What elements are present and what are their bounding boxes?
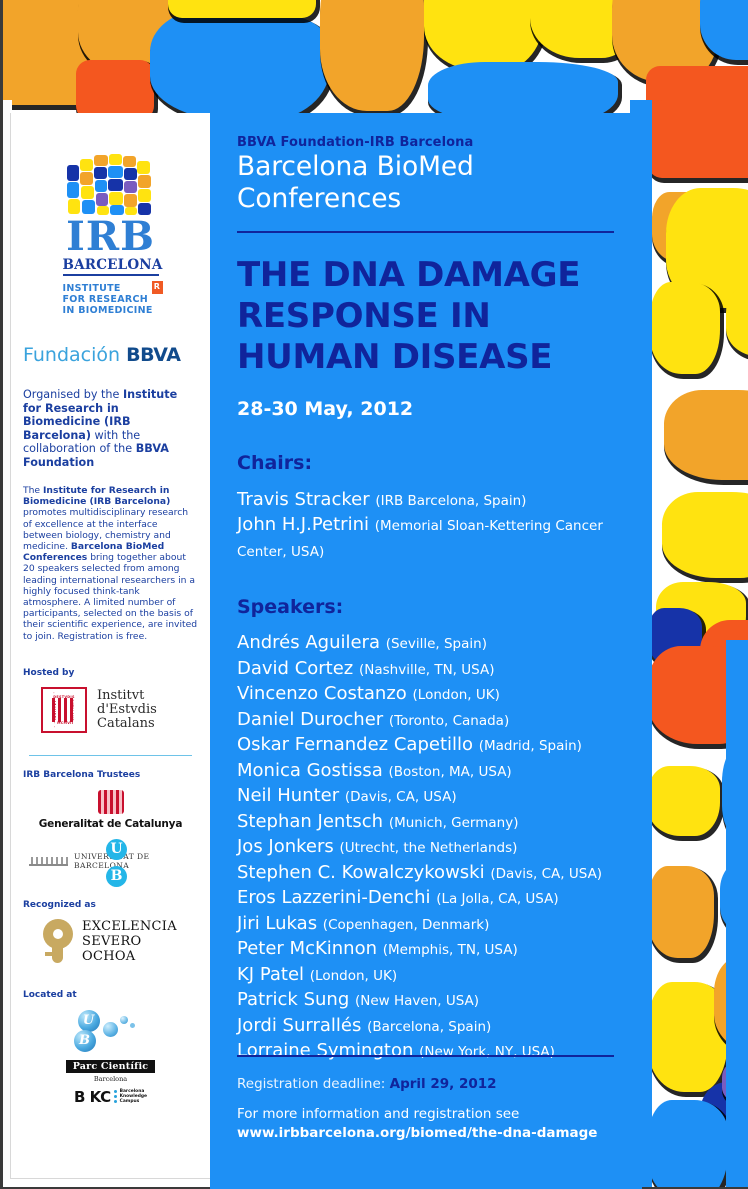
person-affiliation: (Toronto, Canada) — [389, 713, 509, 729]
ub-u-icon: U — [106, 839, 127, 860]
person-name: Stephen C. Kowalczykowski — [237, 862, 490, 883]
mosaic-tile — [648, 100, 748, 178]
parc-cientific-logo: U B Parc Científic Barcelona B KC Barcel… — [23, 1010, 198, 1106]
person-name: KJ Patel — [237, 964, 310, 985]
person-entry: Neil Hunter (Davis, CA, USA) — [237, 784, 614, 810]
person-name: Stephan Jentsch — [237, 811, 389, 832]
person-affiliation: (London, UK) — [413, 687, 500, 703]
person-name: Patrick Sung — [237, 989, 355, 1010]
conference-poster: IRB BARCELONA INSTITUTE FOR RESEARCH IN … — [0, 0, 748, 1189]
mosaic-tile — [664, 390, 748, 480]
mosaic-tile — [650, 282, 720, 374]
parc-bubble-u-label: U — [83, 1013, 94, 1028]
page-title: THE DNA DAMAGE RESPONSE IN HUMAN DISEASE — [237, 255, 614, 378]
severo-text: EXCELENCIA SEVERO OCHOA — [82, 919, 177, 964]
person-entry: KJ Patel (London, UK) — [237, 963, 614, 989]
parc-bubble-b-label: B — [79, 1033, 90, 1048]
mosaic-tile — [648, 766, 720, 836]
person-affiliation: (New Haven, USA) — [355, 993, 479, 1009]
parc-bubbles-icon: U B — [56, 1010, 166, 1054]
ub-name: UNIVERSITAT DE BARCELONA — [74, 852, 198, 870]
registration-url[interactable]: www.irbbarcelona.org/biomed/the-dna-dama… — [237, 1125, 597, 1141]
person-name: Daniel Durocher — [237, 709, 389, 730]
person-affiliation: (Copenhagen, Denmark) — [323, 917, 490, 933]
person-entry: Stephan Jentsch (Munich, Germany) — [237, 810, 614, 836]
person-entry: Jordi Surrallés (Barcelona, Spain) — [237, 1014, 614, 1040]
irb-subtitle-line2: FOR RESEARCH — [63, 294, 159, 305]
ub-b-icon: B — [106, 866, 127, 887]
person-affiliation: (Barcelona, Spain) — [367, 1019, 491, 1035]
mosaic-tile — [320, 0, 424, 111]
person-name: Peter McKinnon — [237, 938, 383, 959]
mosaic-tile — [648, 1100, 728, 1189]
person-entry: Eros Lazzerini-Denchi (La Jolla, CA, USA… — [237, 886, 614, 912]
bkc-sub-line3: Campus — [120, 1099, 140, 1104]
severo-line3: OCHOA — [82, 949, 177, 964]
person-name: Monica Gostissa — [237, 760, 389, 781]
person-entry: Peter McKinnon (Memphis, TN, USA) — [237, 937, 614, 963]
person-affiliation: (La Jolla, CA, USA) — [436, 891, 558, 907]
person-affiliation: (Boston, MA, USA) — [389, 764, 512, 780]
person-name: Jiri Lukas — [237, 913, 323, 934]
mosaic-tile — [168, 0, 316, 18]
organised-by-text: Organised by the Institute for Research … — [23, 388, 198, 469]
far-right-blue-strip — [726, 640, 748, 1189]
registered-mark-icon: R — [152, 281, 163, 294]
person-name: Jordi Surrallés — [237, 1015, 367, 1036]
description-text: The Institute for Research in Biomedicin… — [23, 485, 198, 642]
deadline-date: April 29, 2012 — [390, 1076, 497, 1092]
iec-name-line3: Catalans — [97, 717, 157, 731]
person-name: Lorraine Symington — [237, 1040, 419, 1061]
person-entry: David Cortez (Nashville, TN, USA) — [237, 657, 614, 683]
generalitat-name: Generalitat de Catalunya — [23, 818, 198, 830]
person-affiliation: (New York, NY, USA) — [419, 1044, 555, 1060]
bkc-logo: B KC Barcelona Knowledge Campus — [23, 1088, 198, 1106]
irb-subtitle: INSTITUTE FOR RESEARCH IN BIOMEDICINE R — [63, 283, 159, 316]
chairs-heading: Chairs: — [237, 452, 614, 474]
mosaic-tile — [648, 866, 714, 958]
severo-line2: SEVERO — [82, 934, 177, 949]
person-entry: Daniel Durocher (Toronto, Canada) — [237, 708, 614, 734]
person-affiliation: (Memphis, TN, USA) — [383, 942, 518, 958]
sidebar-divider — [29, 755, 192, 756]
parc-bubble-mid — [103, 1022, 118, 1037]
recognized-as-label: Recognized as — [23, 900, 198, 910]
parc-bubble-b: B — [74, 1030, 96, 1052]
info-line: For more information and registration se… — [237, 1106, 519, 1122]
person-entry: Vincenzo Costanzo (London, UK) — [237, 682, 614, 708]
person-entry: Monica Gostissa (Boston, MA, USA) — [237, 759, 614, 785]
person-name: Vincenzo Costanzo — [237, 683, 413, 704]
key-icon — [43, 919, 73, 963]
speakers-list: Andrés Aguilera (Seville, Spain)David Co… — [237, 631, 614, 1065]
series-title: Barcelona BioMed Conferences — [237, 151, 614, 215]
person-affiliation: (Davis, CA, USA) — [345, 789, 457, 805]
description-pre: The — [23, 485, 43, 496]
bkc-dots-icon — [114, 1090, 117, 1103]
irb-subtitle-line3: IN BIOMEDICINE — [63, 305, 159, 316]
iec-logo: · DESTVDIS · · MCMVII · INSTITVT CATALAN… — [23, 687, 198, 733]
parc-bubble-small1 — [120, 1016, 128, 1024]
person-affiliation: (Utrecht, the Netherlands) — [340, 840, 518, 856]
parc-tag: Parc Científic — [66, 1060, 156, 1073]
irb-subtitle-line1: INSTITUTE — [63, 283, 159, 294]
sidebar: IRB BARCELONA INSTITUTE FOR RESEARCH IN … — [10, 113, 210, 1179]
person-entry: Andrés Aguilera (Seville, Spain) — [237, 631, 614, 657]
iec-name-line2: d'Estvdis — [97, 703, 157, 717]
person-name: Jos Jonkers — [237, 836, 340, 857]
person-affiliation: (IRB Barcelona, Spain) — [375, 493, 526, 509]
bbva-brand: BBVA — [126, 344, 180, 366]
person-name: Andrés Aguilera — [237, 632, 386, 653]
person-affiliation: (Nashville, TN, USA) — [359, 662, 495, 678]
generalitat-logo: Generalitat de Catalunya — [23, 790, 198, 830]
person-entry: Stephen C. Kowalczykowski (Davis, CA, US… — [237, 861, 614, 887]
mosaic-tile — [424, 0, 544, 70]
description-bold-irb: Institute for Research in Biomedicine (I… — [23, 485, 170, 507]
parc-tag-wrap: Parc Científic — [23, 1054, 198, 1073]
person-name: Eros Lazzerini-Denchi — [237, 887, 436, 908]
person-affiliation: (Davis, CA, USA) — [490, 866, 602, 882]
irb-city: BARCELONA — [63, 257, 159, 276]
bkc-sub: Barcelona Knowledge Campus — [120, 1089, 147, 1104]
panel-kicker: BBVA Foundation-IRB Barcelona — [237, 135, 614, 150]
iec-ring-bottom: · MCMVII · — [54, 721, 74, 729]
person-affiliation: (London, UK) — [310, 968, 397, 984]
bottom-divider — [237, 1055, 614, 1057]
conference-dates: 28-30 May, 2012 — [237, 398, 614, 420]
person-entry: John H.J.Petrini (Memorial Sloan-Ketteri… — [237, 513, 614, 564]
located-at-label: Located at — [23, 990, 198, 1000]
person-name: David Cortez — [237, 658, 359, 679]
parc-bubble-small2 — [130, 1023, 135, 1028]
parc-sub: Barcelona — [23, 1075, 198, 1083]
top-divider — [237, 231, 614, 233]
person-entry: Travis Stracker (IRB Barcelona, Spain) — [237, 488, 614, 514]
person-affiliation: (Seville, Spain) — [386, 636, 487, 652]
bbva-foundation-logo: Fundación BBVA — [23, 344, 198, 366]
person-entry: Patrick Sung (New Haven, USA) — [237, 988, 614, 1014]
person-name: Travis Stracker — [237, 489, 375, 510]
iec-ring-right: CATALANS — [70, 699, 74, 721]
ub-building-icon — [29, 854, 68, 868]
key-stem — [52, 946, 63, 963]
iec-ring-text: · DESTVDIS · · MCMVII · INSTITVT CATALAN… — [44, 690, 84, 730]
chairs-list: Travis Stracker (IRB Barcelona, Spain)Jo… — [237, 488, 614, 565]
person-entry: Lorraine Symington (New York, NY, USA) — [237, 1039, 614, 1065]
person-entry: Jiri Lukas (Copenhagen, Denmark) — [237, 912, 614, 938]
more-info: For more information and registration se… — [237, 1105, 597, 1143]
registration-deadline: Registration deadline: April 29, 2012 — [237, 1076, 497, 1092]
iec-shield-icon: · DESTVDIS · · MCMVII · INSTITVT CATALAN… — [41, 687, 87, 733]
mosaic-tile — [76, 60, 154, 120]
severo-line1: EXCELENCIA — [82, 919, 177, 934]
person-entry: Oskar Fernandez Capetillo (Madrid, Spain… — [237, 733, 614, 759]
person-name: Oskar Fernandez Capetillo — [237, 734, 479, 755]
irb-logo: IRB BARCELONA INSTITUTE FOR RESEARCH IN … — [63, 153, 159, 316]
mosaic-tile — [726, 286, 748, 356]
severo-ochoa-logo: EXCELENCIA SEVERO OCHOA — [23, 919, 198, 964]
description-mid2: bring together about 20 speakers selecte… — [23, 552, 197, 641]
mosaic-tile — [662, 492, 748, 578]
trustees-label: IRB Barcelona Trustees — [23, 770, 198, 780]
main-panel: BBVA Foundation-IRB Barcelona Barcelona … — [210, 113, 642, 1189]
speakers-heading: Speakers: — [237, 596, 614, 618]
parc-bubble-u: U — [78, 1010, 100, 1032]
deadline-label: Registration deadline: — [237, 1076, 385, 1092]
person-entry: Jos Jonkers (Utrecht, the Netherlands) — [237, 835, 614, 861]
person-name: John H.J.Petrini — [237, 514, 375, 535]
person-name: Neil Hunter — [237, 785, 345, 806]
organised-prefix: Organised by the — [23, 388, 123, 401]
irb-mosaic-arch-icon — [63, 153, 159, 215]
person-affiliation: (Munich, Germany) — [389, 815, 519, 831]
generalitat-shield-icon — [98, 790, 124, 814]
bkc-main: B KC — [74, 1088, 111, 1106]
iec-name-line1: Institvt — [97, 689, 157, 703]
irb-acronym: IRB — [63, 217, 159, 257]
mosaic-tile — [150, 10, 330, 120]
universitat-barcelona-logo: UNIVERSITAT DE BARCELONA U B — [23, 852, 198, 870]
iec-name: Institvt d'Estvdis Catalans — [97, 689, 157, 731]
key-notch — [45, 952, 53, 956]
iec-ring-left: INSTITVT — [53, 700, 57, 720]
bbva-word: Fundación — [23, 344, 126, 366]
person-affiliation: (Madrid, Spain) — [479, 738, 582, 754]
hosted-by-label: Hosted by — [23, 668, 198, 678]
